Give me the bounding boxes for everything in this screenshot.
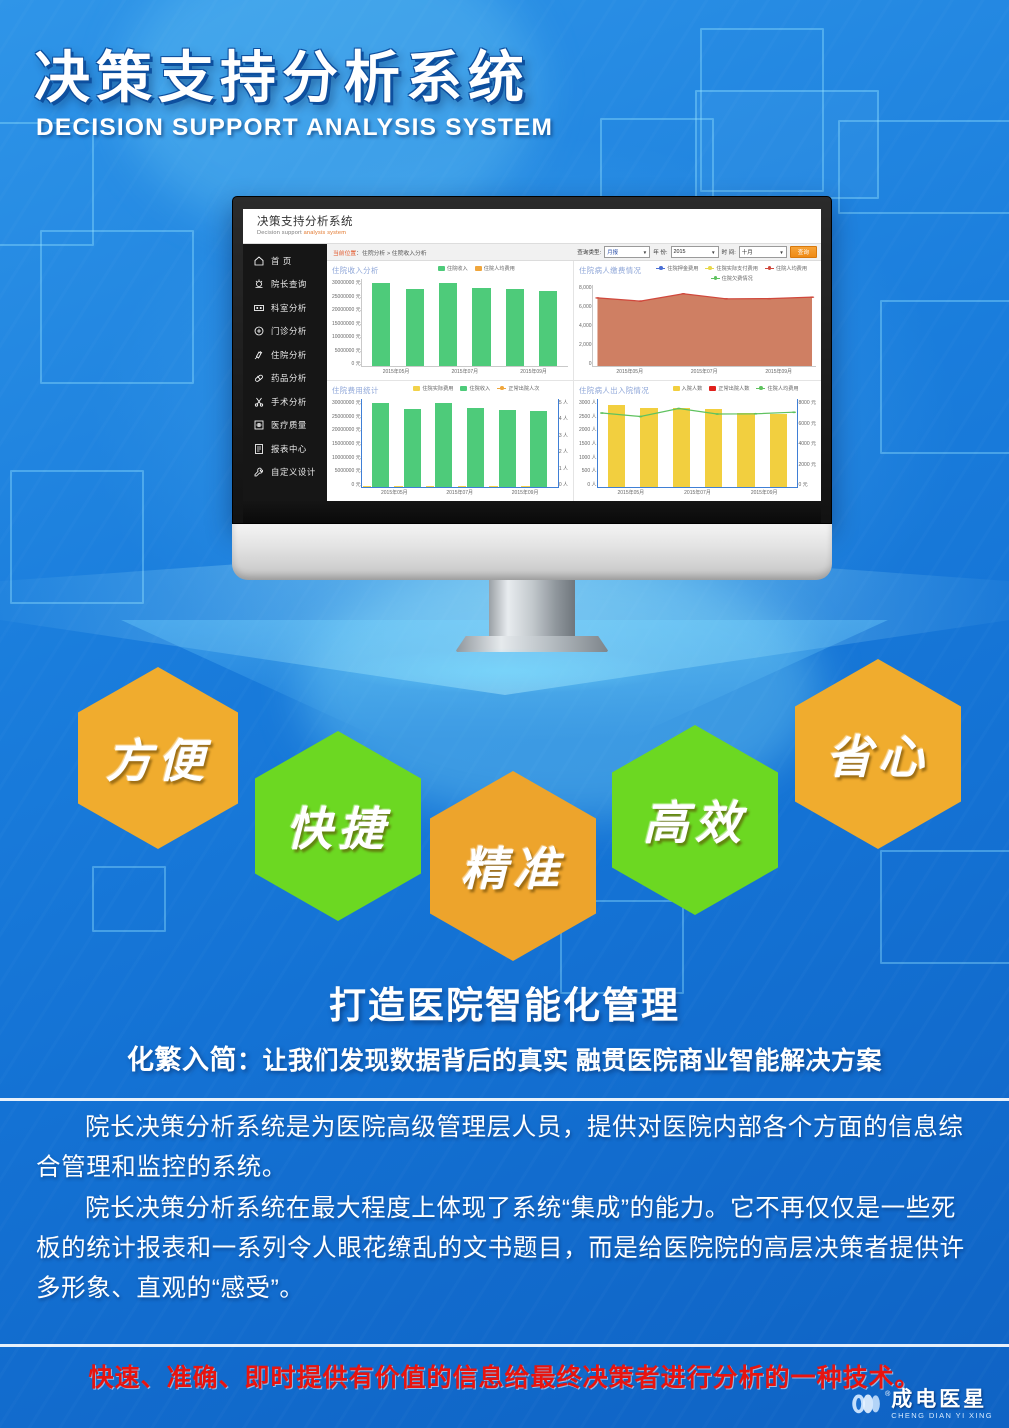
- axis-tick: 2,000: [579, 342, 592, 348]
- bar-column: [406, 279, 424, 366]
- hexagon-label: 省心: [826, 721, 930, 787]
- bar-column: [435, 399, 452, 487]
- axis-tick: 0 元: [332, 481, 361, 488]
- sidebar-item-report[interactable]: 报表中心: [243, 437, 327, 461]
- bar-secondary: [458, 486, 467, 487]
- hexagon-label: 快捷: [286, 793, 390, 859]
- chart-panel-payment-status: 住院病人缴费情况 住院押金费用住院实际支付费用住院人均费用住院欠费情况 8,00…: [574, 261, 821, 381]
- logo-name-cn: 成电医星: [891, 1389, 993, 1410]
- legend-label: 住院实际费用: [422, 386, 453, 392]
- sidebar-item-label: 报表中心: [271, 443, 307, 455]
- app-brand-en: Decision support analysis system: [257, 230, 821, 236]
- area-series: [593, 285, 816, 366]
- department-icon: [253, 302, 265, 314]
- outpatient-icon: [253, 325, 265, 337]
- axis-tick: 4000 元: [798, 440, 816, 447]
- legend-swatch: [673, 386, 680, 391]
- query-type-value: 月报: [607, 248, 618, 256]
- tagline-main: 打造医院智能化管理: [0, 975, 1009, 1029]
- legend-swatch: [705, 268, 714, 270]
- bar: [506, 289, 524, 366]
- divider-bottom: [0, 1344, 1009, 1347]
- poster-title-cn: 决策支持分析系统: [34, 48, 734, 108]
- axis-tick: 30000000 元: [332, 399, 361, 406]
- query-button[interactable]: 查询: [790, 246, 817, 258]
- chart-panel-cost-statistics: 住院费用统计 住院实际费用住院收入正常出院人次 30000000 元250000…: [327, 381, 574, 501]
- chart-plot: 8,0006,0004,0002,0000 2015年05月2015年07月20…: [579, 285, 816, 376]
- poster-title-en: DECISION SUPPORT ANALYSIS SYSTEM: [36, 114, 734, 142]
- legend-label: 住院押金费用: [667, 266, 698, 272]
- chart-header: 住院病人出入院情况 入院人数正常出院人数住院人均费用: [579, 385, 816, 396]
- axis-tick: 1 人: [559, 465, 568, 472]
- body-paragraph-1: 院长决策分析系统是为医院高级管理层人员，提供对医院内部各个方面的信息综合管理和监…: [36, 1108, 973, 1187]
- logo-name-en: CHENG DIAN YI XING: [891, 1412, 993, 1420]
- x-tick: 2015年07月: [451, 368, 478, 375]
- legend-swatch: [475, 266, 482, 271]
- bar-secondary: [394, 486, 403, 487]
- app-brand-en-1: Decision support: [257, 230, 304, 236]
- axis-tick: 20000000 元: [332, 426, 361, 433]
- bar-secondary: [521, 486, 530, 487]
- legend-item: 住院人均费用: [765, 265, 807, 272]
- bar: [530, 411, 547, 487]
- legend-swatch: [460, 386, 467, 391]
- sidebar-item-label: 医疗质量: [271, 419, 307, 431]
- query-year-select[interactable]: 2015 ▼: [671, 246, 719, 258]
- monitor-bottom-bezel: [243, 501, 821, 523]
- x-tick: 2015年09月: [765, 368, 792, 375]
- dashboard-main: 当前位置：住院分析 > 住院收入分析 查询类型: 月报 ▼ 年 份:: [327, 244, 821, 501]
- axis-tick: 25000000 元: [332, 413, 361, 420]
- tagline-sub-lead: 化繁入简: [127, 1045, 237, 1075]
- axis-tick: 6000 元: [798, 420, 816, 427]
- chart-panel-inpatient-revenue: 住院收入分析 住院收入住院人均费用 30000000 元25000000 元20…: [327, 261, 574, 381]
- bar-series: [362, 399, 558, 487]
- y-axis-ticks: 30000000 元25000000 元20000000 元15000000 元…: [332, 279, 361, 376]
- axis-tick: 0 人: [579, 481, 597, 488]
- tagline-sub-rest: ：让我们发现数据背后的真实 融贯医院商业智能解决方案: [237, 1047, 882, 1075]
- bar-secondary: [363, 486, 372, 487]
- axis-tick: 8000 元: [798, 399, 816, 406]
- axis-tick: 8,000: [579, 285, 592, 291]
- query-month-value: 十月: [742, 248, 753, 256]
- bar: [467, 408, 484, 487]
- axis-tick: 3000 人: [579, 399, 597, 406]
- inpatient-icon: [253, 349, 265, 361]
- chart-plot: 3000 人2500 人2000 人1500 人1000 人500 人0 人 2…: [579, 399, 816, 497]
- bg-square-7: [880, 300, 1009, 454]
- axis-tick: 500 人: [579, 467, 597, 474]
- axis-tick: 2 人: [559, 448, 568, 455]
- chart-legend: 入院人数正常出院人数住院人均费用: [655, 385, 816, 392]
- sidebar-item-department[interactable]: 科室分析: [243, 296, 327, 320]
- hexagon-label: 方便: [106, 725, 210, 791]
- chart-title: 住院费用统计: [332, 385, 379, 396]
- legend-swatch: [709, 386, 716, 391]
- y-axis-ticks: 3000 人2500 人2000 人1500 人1000 人500 人0 人: [579, 399, 597, 497]
- chart-canvas: 2015年05月2015年07月2015年09月: [361, 399, 559, 488]
- x-tick: 2015年05月: [618, 489, 645, 496]
- axis-tick: 10000000 元: [332, 454, 361, 461]
- axis-tick: 15000000 元: [332, 440, 361, 447]
- legend-label: 住院收入: [469, 386, 490, 392]
- bar-secondary: [489, 486, 498, 487]
- logo-text: 成电医星 CHENG DIAN YI XING: [891, 1389, 993, 1420]
- legend-swatch: [765, 268, 774, 270]
- legend-label: 住院人均费用: [776, 266, 807, 272]
- breadcrumb-label: 当前位置: [333, 251, 356, 257]
- quality-icon: [253, 419, 265, 431]
- chart-title: 住院病人缴费情况: [579, 265, 641, 276]
- sidebar-item-label: 首 页: [271, 255, 292, 267]
- body-paragraph-2: 院长决策分析系统在最大程度上体现了系统“集成”的能力。它不再仅仅是一些死板的统计…: [36, 1189, 973, 1308]
- axis-tick: 2000 元: [798, 461, 816, 468]
- chart-plot: 30000000 元25000000 元20000000 元15000000 元…: [332, 399, 568, 497]
- sidebar-item-home[interactable]: 首 页: [243, 249, 327, 273]
- monitor-chin: [232, 524, 832, 580]
- bar-secondary: [426, 486, 435, 487]
- legend-swatch: [497, 388, 506, 390]
- bg-square-3: [838, 120, 1009, 214]
- axis-tick: 1500 人: [579, 440, 597, 447]
- query-year-value: 2015: [674, 249, 686, 255]
- legend-label: 正常出院人数: [718, 386, 749, 392]
- query-type-label: 查询类型:: [577, 248, 601, 256]
- query-month-select[interactable]: 十月 ▼: [739, 246, 787, 258]
- legend-label: 住院人均费用: [484, 266, 515, 272]
- x-tick: 2015年07月: [446, 489, 473, 496]
- x-tick: 2015年09月: [512, 489, 539, 496]
- axis-tick: 10000000 元: [332, 333, 361, 340]
- chart-canvas: 2015年05月2015年07月2015年09月: [361, 279, 568, 367]
- legend-label: 正常出院人次: [508, 386, 539, 392]
- chart-legend: 住院实际费用住院收入正常出院人次: [385, 385, 568, 392]
- app-body: 首 页 院长查询 科室分析: [243, 244, 821, 501]
- legend-label: 入院人数: [682, 386, 703, 392]
- legend-item: 住院押金费用: [656, 265, 698, 272]
- y-axis-ticks: 8,0006,0004,0002,0000: [579, 285, 592, 376]
- x-tick: 2015年09月: [751, 489, 778, 496]
- hexagon-label: 精准: [461, 833, 565, 899]
- chart-title: 住院收入分析: [332, 265, 379, 276]
- sidebar-item-inpatient[interactable]: 住院分析: [243, 343, 327, 367]
- sidebar-item-label: 住院分析: [271, 349, 307, 361]
- sidebar-item-label: 门诊分析: [271, 325, 307, 337]
- y-axis-ticks: 30000000 元25000000 元20000000 元15000000 元…: [332, 399, 361, 497]
- axis-tick: 15000000 元: [332, 320, 361, 327]
- legend-label: 住院收入: [447, 266, 468, 272]
- query-type-select[interactable]: 月报 ▼: [604, 246, 650, 258]
- logo-swirl-icon: [851, 1392, 885, 1416]
- axis-tick: 3 人: [559, 432, 568, 439]
- bar: [472, 288, 490, 366]
- home-icon: [253, 255, 265, 267]
- chevron-down-icon: ▼: [779, 250, 784, 255]
- chart-legend: 住院收入住院人均费用: [385, 265, 568, 272]
- chart-header: 住院病人缴费情况 住院押金费用住院实际支付费用住院人均费用住院欠费情况: [579, 265, 816, 282]
- hexagon-convenient: 方便: [78, 667, 238, 849]
- bar-column: [439, 279, 457, 366]
- chart-header: 住院费用统计 住院实际费用住院收入正常出院人次: [332, 385, 568, 396]
- legend-item: 正常出院人次: [497, 385, 539, 392]
- axis-tick: 0 元: [798, 481, 816, 488]
- bar-column: [372, 279, 390, 366]
- surgery-icon: [253, 396, 265, 408]
- sidebar-item-custom-design[interactable]: 自定义设计: [243, 461, 327, 485]
- axis-tick: 0 人: [559, 481, 568, 488]
- hexagon-label: 高效: [643, 787, 747, 853]
- monitor-mockup: 决策支持分析系统 Decision support analysis syste…: [232, 196, 832, 652]
- bar-column: [530, 399, 547, 487]
- app-header: 决策支持分析系统 Decision support analysis syste…: [243, 209, 821, 244]
- chart-header: 住院收入分析 住院收入住院人均费用: [332, 265, 568, 276]
- bar-column: [506, 279, 524, 366]
- legend-item: 住院欠费情况: [711, 275, 753, 282]
- x-axis-ticks: 2015年05月2015年07月2015年09月: [598, 489, 798, 496]
- bar: [439, 283, 457, 366]
- chevron-down-icon: ▼: [643, 250, 648, 255]
- tagline-sub: 化繁入简：让我们发现数据背后的真实 融贯医院商业智能解决方案: [0, 1038, 1009, 1077]
- monitor-stand-neck: [489, 580, 575, 636]
- body-copy: 院长决策分析系统是为医院高级管理层人员，提供对医院内部各个方面的信息综合管理和监…: [36, 1108, 973, 1310]
- legend-swatch: [756, 388, 765, 390]
- bar: [372, 403, 389, 487]
- sidebar-item-label: 院长查询: [271, 278, 307, 290]
- axis-tick: 0: [579, 361, 592, 367]
- axis-tick: 0 元: [332, 360, 361, 367]
- legend-item: 住院实际支付费用: [705, 265, 758, 272]
- sidebar-item-outpatient[interactable]: 门诊分析: [243, 320, 327, 344]
- dashboard-toolbar: 当前位置：住院分析 > 住院收入分析 查询类型: 月报 ▼ 年 份:: [327, 244, 821, 261]
- x-axis-ticks: 2015年05月2015年07月2015年09月: [362, 489, 558, 496]
- bar-column: [467, 399, 484, 487]
- legend-label: 住院欠费情况: [722, 276, 753, 282]
- app-brand-cn: 决策支持分析系统: [257, 213, 821, 229]
- divider-top: [0, 1098, 1009, 1101]
- report-icon: [253, 443, 265, 455]
- monitor-frame: 决策支持分析系统 Decision support analysis syste…: [232, 196, 832, 524]
- registered-mark: ®: [885, 1391, 890, 1398]
- legend-item: 住院人均费用: [475, 265, 515, 272]
- axis-tick: 30000000 元: [332, 279, 361, 286]
- axis-tick: 4,000: [579, 323, 592, 329]
- breadcrumb: 当前位置：住院分析 > 住院收入分析: [333, 248, 427, 257]
- legend-swatch: [711, 278, 720, 280]
- bg-square-6: [40, 230, 194, 384]
- legend-item: 正常出院人数: [709, 385, 749, 392]
- bar-column: [499, 399, 516, 487]
- legend-swatch: [413, 386, 420, 391]
- bar-column: [372, 399, 389, 487]
- bar-column: [404, 399, 421, 487]
- custom-design-icon: [253, 466, 265, 478]
- chart-panel-admission-discharge: 住院病人出入院情况 入院人数正常出院人数住院人均费用 3000 人2500 人2…: [574, 381, 821, 501]
- axis-tick: 1000 人: [579, 454, 597, 461]
- line-series: [598, 399, 798, 487]
- sidebar-item-label: 手术分析: [271, 396, 307, 408]
- bar: [404, 409, 421, 487]
- bar: [406, 289, 424, 366]
- query-month-label: 时 间:: [722, 248, 736, 256]
- x-tick: 2015年09月: [520, 368, 547, 375]
- sidebar: 首 页 院长查询 科室分析: [243, 244, 327, 501]
- query-controls: 查询类型: 月报 ▼ 年 份: 2015 ▼: [577, 246, 817, 258]
- legend-label: 住院实际支付费用: [716, 266, 758, 272]
- bar: [435, 403, 452, 487]
- axis-tick: 5000000 元: [332, 347, 361, 354]
- bar-column: [539, 279, 557, 366]
- axis-tick: 4 人: [559, 415, 568, 422]
- monitor-screen: 决策支持分析系统 Decision support analysis syste…: [243, 209, 821, 501]
- x-tick: 2015年05月: [616, 368, 643, 375]
- hexagon-accurate: 精准: [430, 771, 596, 961]
- chart-grid: 住院收入分析 住院收入住院人均费用 30000000 元25000000 元20…: [327, 261, 821, 501]
- x-axis-ticks: 2015年05月2015年07月2015年09月: [593, 368, 816, 375]
- poster-root: 决策支持分析系统 DECISION SUPPORT ANALYSIS SYSTE…: [0, 0, 1009, 1428]
- x-tick: 2015年07月: [691, 368, 718, 375]
- bar-column: [472, 279, 490, 366]
- legend-item: 住院收入: [438, 265, 468, 272]
- feature-hexagons: 方便 快捷 精准 高效 省心: [0, 655, 1009, 955]
- hexagon-fast: 快捷: [255, 731, 421, 921]
- x-tick: 2015年05月: [383, 368, 410, 375]
- legend-label: 住院人均费用: [767, 386, 798, 392]
- axis-tick: 2000 人: [579, 426, 597, 433]
- sidebar-item-label: 科室分析: [271, 302, 307, 314]
- chevron-down-icon: ▼: [711, 250, 716, 255]
- query-year-label: 年 份:: [653, 248, 667, 256]
- axis-tick: 20000000 元: [332, 306, 361, 313]
- chart-canvas: 2015年05月2015年07月2015年09月: [592, 285, 816, 367]
- legend-item: 住院人均费用: [756, 385, 798, 392]
- bar-series: [362, 279, 568, 366]
- sidebar-item-label: 药品分析: [271, 372, 307, 384]
- bar: [372, 283, 390, 366]
- axis-tick: 25000000 元: [332, 293, 361, 300]
- chart-legend: 住院押金费用住院实际支付费用住院人均费用住院欠费情况: [647, 265, 816, 282]
- logo-mark-icon: ®: [851, 1392, 885, 1416]
- dean-query-icon: [253, 278, 265, 290]
- y-axis-ticks-right: 8000 元6000 元4000 元2000 元0 元: [798, 399, 816, 497]
- company-logo: ® 成电医星 CHENG DIAN YI XING: [851, 1389, 993, 1420]
- legend-swatch: [656, 268, 665, 270]
- sidebar-item-quality[interactable]: 医疗质量: [243, 414, 327, 438]
- chart-plot: 30000000 元25000000 元20000000 元15000000 元…: [332, 279, 568, 376]
- bar: [539, 291, 557, 366]
- legend-item: 住院实际费用: [413, 385, 453, 392]
- chart-title: 住院病人出入院情况: [579, 385, 649, 396]
- axis-tick: 2500 人: [579, 413, 597, 420]
- sidebar-item-dean-query[interactable]: 院长查询: [243, 273, 327, 297]
- sidebar-item-surgery[interactable]: 手术分析: [243, 390, 327, 414]
- y-axis-ticks-right: 5 人4 人3 人2 人1 人0 人: [559, 399, 568, 497]
- app-brand-en-2: analysis system: [304, 230, 346, 236]
- sidebar-item-drug[interactable]: 药品分析: [243, 367, 327, 391]
- breadcrumb-path: 住院分析 > 住院收入分析: [362, 251, 427, 257]
- x-tick: 2015年05月: [381, 489, 408, 496]
- dashboard-app: 决策支持分析系统 Decision support analysis syste…: [243, 209, 821, 501]
- sidebar-item-label: 自定义设计: [271, 466, 316, 478]
- bar: [499, 410, 516, 487]
- legend-swatch: [438, 266, 445, 271]
- chart-canvas: 2015年05月2015年07月2015年09月: [597, 399, 799, 488]
- x-tick: 2015年07月: [684, 489, 711, 496]
- axis-tick: 5 人: [559, 399, 568, 406]
- legend-item: 入院人数: [673, 385, 703, 392]
- hexagon-worry-free: 省心: [795, 659, 961, 849]
- axis-tick: 6,000: [579, 304, 592, 310]
- hexagon-efficient: 高效: [612, 725, 778, 915]
- poster-header: 决策支持分析系统 DECISION SUPPORT ANALYSIS SYSTE…: [34, 48, 734, 142]
- drug-icon: [253, 372, 265, 384]
- legend-item: 住院收入: [460, 385, 490, 392]
- x-axis-ticks: 2015年05月2015年07月2015年09月: [362, 368, 568, 375]
- axis-tick: 5000000 元: [332, 467, 361, 474]
